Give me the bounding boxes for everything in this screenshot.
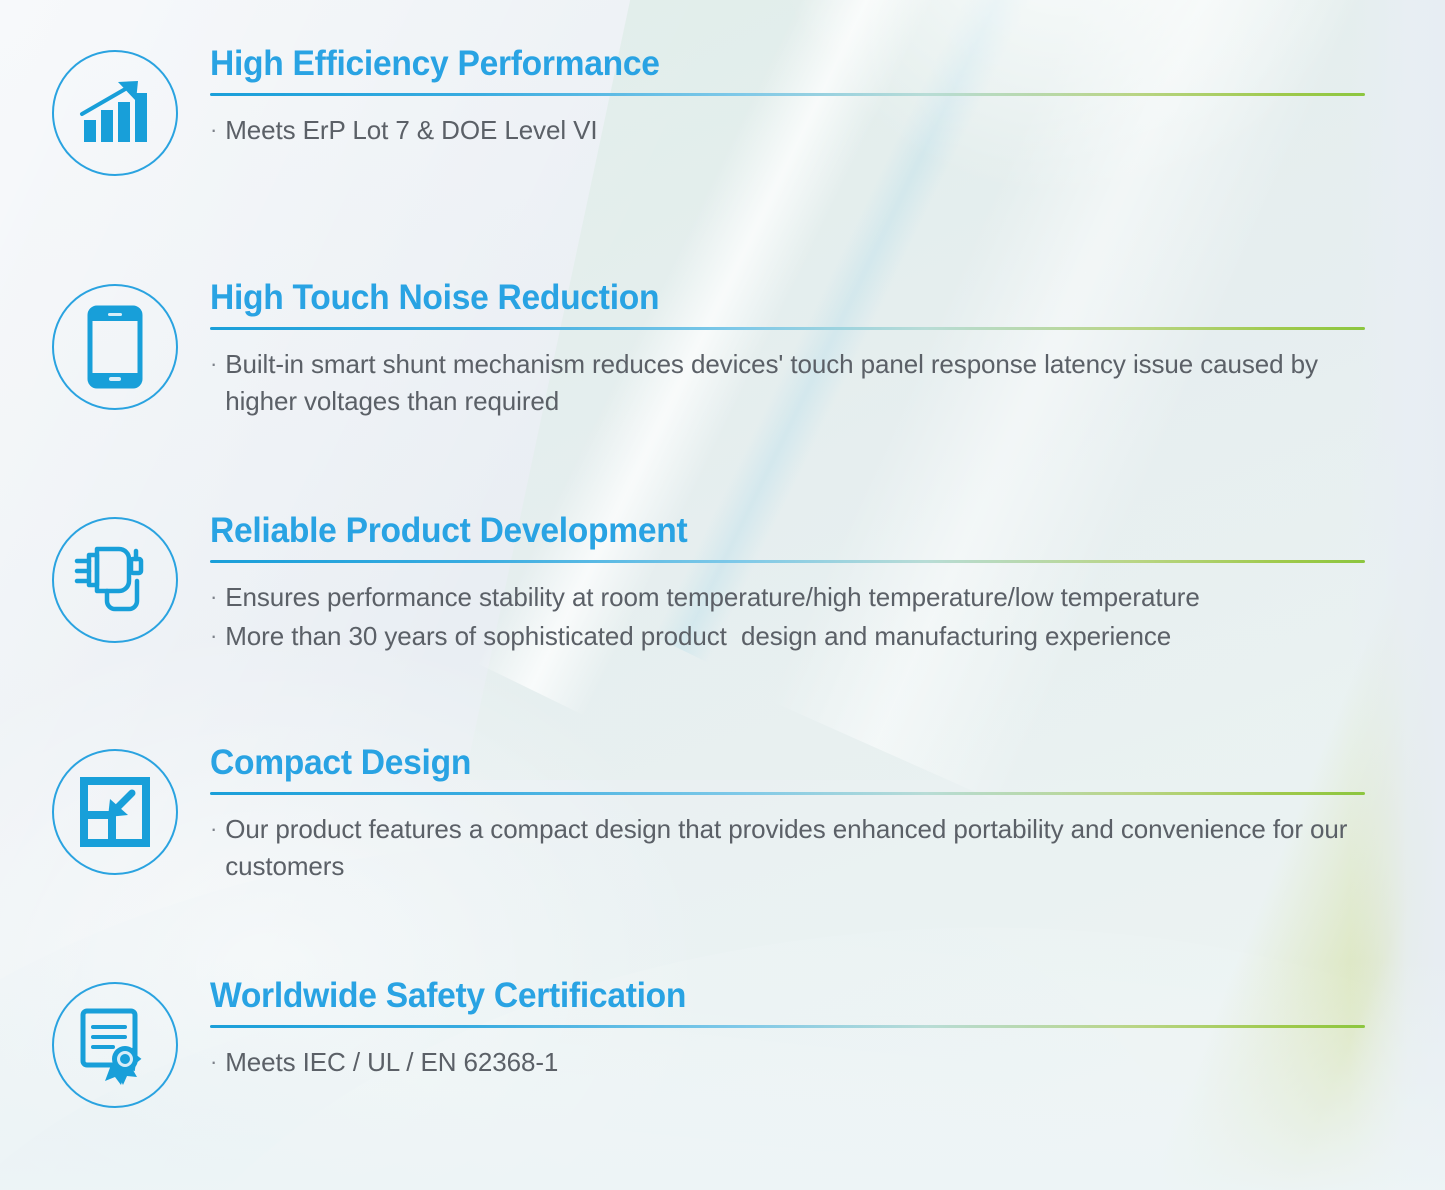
feature-title: Compact Design [210, 745, 1319, 780]
power-adapter-icon [52, 517, 178, 643]
feature-title: High Touch Noise Reduction [210, 280, 1319, 315]
feature-bullets: · Built-in smart shunt mechanism reduces… [210, 346, 1365, 420]
feature-divider [210, 93, 1365, 96]
bullet-item: · Our product features a compact design … [210, 811, 1365, 885]
bullet-item: · Meets ErP Lot 7 & DOE Level VI [210, 112, 1365, 149]
feature-divider [210, 1025, 1365, 1028]
bullet-item: · Ensures performance stability at room … [210, 579, 1365, 616]
feature-bullets: · Our product features a compact design … [210, 811, 1365, 885]
feature-divider [210, 792, 1365, 795]
bullet-marker: · [210, 579, 217, 614]
feature-item-high-efficiency-performance: High Efficiency Performance · Meets ErP … [52, 46, 1365, 176]
bullet-marker: · [210, 618, 217, 653]
bullet-marker: · [210, 811, 217, 846]
bullet-marker: · [210, 346, 217, 381]
feature-body: Reliable Product Development · Ensures p… [210, 513, 1365, 655]
feature-divider [210, 560, 1365, 563]
feature-body: High Touch Noise Reduction · Built-in sm… [210, 280, 1365, 420]
feature-title: Reliable Product Development [210, 513, 1319, 548]
feature-bullets: · Ensures performance stability at room … [210, 579, 1365, 655]
bullet-text: Ensures performance stability at room te… [225, 579, 1365, 616]
bullet-text: More than 30 years of sophisticated prod… [225, 618, 1365, 655]
feature-item-reliable-product-development: Reliable Product Development · Ensures p… [52, 513, 1365, 655]
feature-item-worldwide-safety-certification: Worldwide Safety Certification · Meets I… [52, 978, 1365, 1108]
bullet-item: · Built-in smart shunt mechanism reduces… [210, 346, 1365, 420]
feature-body: High Efficiency Performance · Meets ErP … [210, 46, 1365, 149]
bullet-item: · Meets IEC / UL / EN 62368-1 [210, 1044, 1365, 1081]
feature-body: Compact Design · Our product features a … [210, 745, 1365, 885]
feature-item-compact-design: Compact Design · Our product features a … [52, 745, 1365, 885]
bullet-marker: · [210, 112, 217, 147]
bullet-text: Our product features a compact design th… [225, 811, 1365, 885]
resize-compact-icon [52, 749, 178, 875]
bullet-item: · More than 30 years of sophisticated pr… [210, 618, 1365, 655]
bullet-text: Meets IEC / UL / EN 62368-1 [225, 1044, 1365, 1081]
feature-bullets: · Meets ErP Lot 7 & DOE Level VI [210, 112, 1365, 149]
bar-chart-growth-icon [52, 50, 178, 176]
bullet-marker: · [210, 1044, 217, 1079]
features-list: High Efficiency Performance · Meets ErP … [0, 0, 1445, 1190]
feature-item-high-touch-noise-reduction: High Touch Noise Reduction · Built-in sm… [52, 280, 1365, 420]
feature-body: Worldwide Safety Certification · Meets I… [210, 978, 1365, 1081]
feature-highlights-page: High Efficiency Performance · Meets ErP … [0, 0, 1445, 1190]
certificate-award-icon [52, 982, 178, 1108]
smartphone-icon [52, 284, 178, 410]
feature-bullets: · Meets IEC / UL / EN 62368-1 [210, 1044, 1365, 1081]
feature-divider [210, 327, 1365, 330]
feature-title: High Efficiency Performance [210, 46, 1319, 81]
feature-title: Worldwide Safety Certification [210, 978, 1319, 1013]
bullet-text: Built-in smart shunt mechanism reduces d… [225, 346, 1365, 420]
bullet-text: Meets ErP Lot 7 & DOE Level VI [225, 112, 1365, 149]
